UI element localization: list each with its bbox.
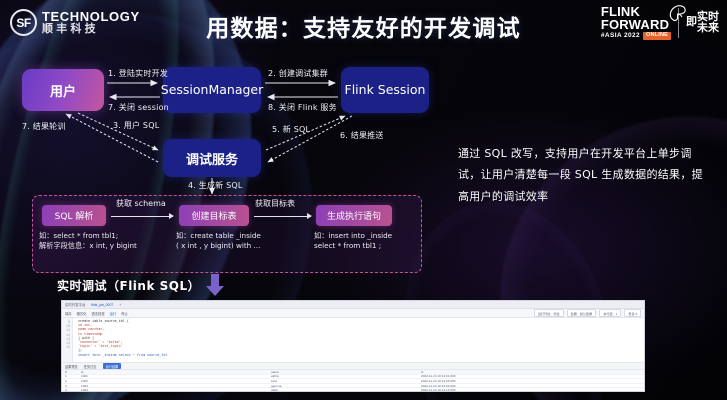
column-header-id: id — [81, 370, 271, 374]
flink-forward-wordmark: FLINK FORWARD #ASIA 2022 ONLINE — [601, 6, 671, 40]
edge-label-8: 8. 关闭 Flink 服务 — [268, 102, 337, 113]
result-tab-preview[interactable]: 结果预览 — [65, 364, 78, 369]
node-debug-service[interactable]: 调试服务 — [163, 139, 261, 177]
conference-chinese-slogan: 实 时 即 未 来 — [686, 12, 719, 34]
cell-index: 2 — [65, 379, 81, 383]
screenshot-result-bar[interactable]: 结果预览 任务日志 运行结果 — [62, 362, 644, 370]
edge-label-7b: 7. 关闭 session — [108, 102, 169, 113]
screenshot-result-table: # id name ts 1 1001 alpha 2022-11-24 10:… — [62, 370, 644, 392]
slide-root: SF TECHNOLOGY 顺丰科技 用数据：支持友好的开发调试 FLINK F… — [0, 0, 727, 400]
screenshot-tab-0[interactable]: 实时开发平台 — [65, 302, 85, 307]
cell-id: 1001 — [81, 374, 271, 378]
screenshot-caption: 实时调试（Flink SQL） — [57, 277, 200, 294]
line-number: 15 — [66, 345, 70, 349]
cell-name: gamma — [271, 384, 421, 388]
pipeline-arrow-label-2: 获取目标表 — [255, 198, 295, 209]
code-line: insert into _inside select * from source… — [78, 354, 644, 358]
squirrel-icon — [665, 3, 687, 23]
node-user[interactable]: 用户 — [22, 69, 104, 111]
pipeline-arrow-1 — [111, 216, 173, 217]
edge-label-6: 6. 结果推送 — [340, 130, 384, 141]
toolbar-right-controls[interactable]: 运行环境：测试 集群：默认集群 并行度：1 更多 ▾ — [534, 309, 641, 317]
description-paragraph: 通过 SQL 改写，支持用户在开发平台上单步调试，让用户清楚每一段 SQL 生成… — [458, 143, 710, 207]
cell-ts: 2022-11-24 10:12:01.000 — [421, 374, 641, 378]
edge-label-5: 5. 新 SQL — [272, 124, 310, 135]
toolbar-stop[interactable]: 停止 — [121, 311, 128, 316]
conference-online-badge: ONLINE — [643, 32, 671, 39]
product-screenshot[interactable]: 实时开发平台 flink_job_0007 + 保存 格式化 语法检查 运行 停… — [61, 300, 645, 392]
screenshot-code-editor[interactable]: 9 10 11 12 13 14 15 create table source_… — [62, 318, 644, 362]
cell-ts: 2022-11-24 10:12:13.000 — [421, 388, 641, 392]
cell-id: 1003 — [81, 384, 271, 388]
cell-name: alpha — [271, 374, 421, 378]
toolbar-parallelism[interactable]: 并行度：1 — [599, 309, 621, 317]
node-flink-session[interactable]: Flink Session — [341, 67, 429, 113]
editor-line-number-gutter: 9 10 11 12 13 14 15 — [62, 318, 73, 362]
toolbar-more-menu[interactable]: 更多 ▾ — [624, 309, 641, 317]
toolbar-env-select[interactable]: 运行环境：测试 — [534, 309, 564, 317]
edge-label-1: 1. 登陆实时开发 — [108, 68, 168, 79]
column-header-index: # — [65, 370, 81, 374]
down-arrow-icon — [205, 274, 225, 296]
screenshot-tab-1[interactable]: flink_job_0007 — [91, 303, 113, 307]
column-header-ts: ts — [421, 370, 641, 374]
slogan-char-5: 来 — [708, 23, 719, 34]
pipeline-step-sql-parse[interactable]: SQL 解析 — [42, 205, 106, 226]
cell-index: 3 — [65, 384, 81, 388]
cell-ts: 2022-11-24 10:12:05.000 — [421, 379, 641, 383]
cell-index: 4 — [65, 388, 81, 392]
cell-name: delta — [271, 388, 421, 392]
toolbar-save[interactable]: 保存 — [65, 311, 72, 316]
toolbar-cluster-select[interactable]: 集群：默认集群 — [567, 309, 597, 317]
toolbar-format[interactable]: 格式化 — [77, 311, 87, 316]
cell-name: beta — [271, 379, 421, 383]
flink-forward-line2: FORWARD — [601, 19, 669, 32]
conference-asia-label: #ASIA 2022 — [601, 33, 640, 39]
result-tab-logs[interactable]: 任务日志 — [84, 364, 97, 369]
flink-forward-subline: #ASIA 2022 ONLINE — [601, 32, 671, 39]
pipeline-note-3: 如：insert into _insideselect * from tbl1 … — [314, 231, 418, 250]
column-header-name: name — [271, 370, 421, 374]
cell-ts: 2022-11-24 10:12:09.000 — [421, 384, 641, 388]
pipeline-step-create-table[interactable]: 创建目标表 — [179, 205, 249, 226]
edge-label-2: 2. 创建调试集群 — [268, 68, 328, 79]
slide-header: SF TECHNOLOGY 顺丰科技 用数据：支持友好的开发调试 FLINK F… — [0, 0, 727, 50]
cell-id: 1004 — [81, 388, 271, 392]
slogan-char-3: 即 — [686, 17, 697, 28]
pipeline-note-2: 如：create table _inside( x int , y bigint… — [176, 231, 308, 250]
result-tab-output[interactable]: 运行结果 — [103, 363, 122, 369]
screenshot-tab-bar[interactable]: 实时开发平台 flink_job_0007 + — [62, 301, 644, 309]
edge-label-7a: 7. 结果轮训 — [22, 121, 66, 132]
edge-label-3: 3. 用户 SQL — [113, 120, 159, 131]
pipeline-arrow-2 — [254, 216, 311, 217]
node-session-manager[interactable]: SessionManager — [163, 67, 261, 113]
pipeline-note-1: 如：select * from tbl1;解析字段信息：x int, y big… — [39, 231, 167, 250]
table-row: 4 1004 delta 2022-11-24 10:12:13.000 — [62, 388, 644, 392]
flow-diagram: 用户 SessionManager Flink Session 调试服务 1. … — [0, 50, 450, 280]
edge-label-4: 4. 生成新 SQL — [188, 180, 243, 191]
pipeline-step-generate-stmt[interactable]: 生成执行语句 — [316, 205, 392, 226]
cell-id: 1002 — [81, 379, 271, 383]
editor-code-area[interactable]: create table source_tbl ( id int, name v… — [73, 318, 644, 362]
sql-rewrite-pipeline: SQL 解析 获取 schema 创建目标表 获取目标表 生成执行语句 如：se… — [32, 195, 422, 273]
toolbar-syntax-check[interactable]: 语法检查 — [91, 311, 104, 316]
screenshot-tab-2[interactable]: + — [119, 303, 121, 307]
screenshot-toolbar[interactable]: 保存 格式化 语法检查 运行 停止 运行环境：测试 集群：默认集群 并行度：1 … — [62, 309, 644, 318]
toolbar-run[interactable]: 运行 — [110, 311, 117, 316]
slogan-char-4: 未 — [697, 23, 708, 34]
pipeline-arrow-label-1: 获取 schema — [116, 198, 166, 209]
flink-forward-logo: FLINK FORWARD #ASIA 2022 ONLINE 实 时 即 未 … — [601, 6, 719, 40]
cell-index: 1 — [65, 374, 81, 378]
